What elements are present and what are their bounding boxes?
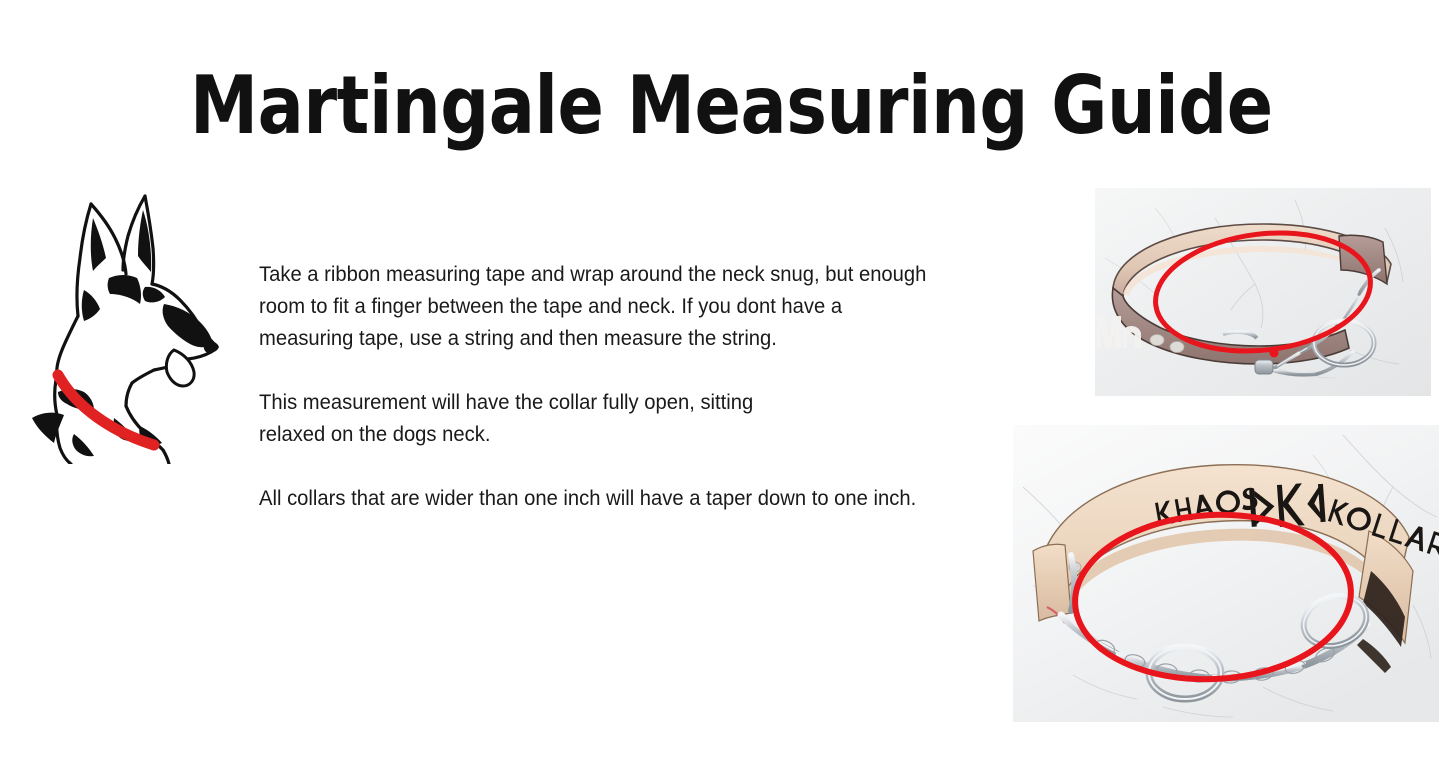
german-shepherd-illustration — [14, 182, 242, 464]
measuring-guide-page: Martingale Measuring Guide — [0, 0, 1445, 757]
paragraph-2: This measurement will have the collar fu… — [259, 386, 973, 450]
martingale-collar-open-top-image — [1095, 188, 1431, 396]
collar-photo-top — [1095, 188, 1431, 396]
annotation-endpoint-dot — [1270, 349, 1279, 358]
collar-photo-bottom — [1013, 425, 1439, 722]
german-shepherd-head-icon — [14, 182, 242, 464]
instructions-text-block: Take a ribbon measuring tape and wrap ar… — [259, 258, 1019, 514]
paragraph-3: All collars that are wider than one inch… — [259, 482, 973, 514]
paragraph-1: Take a ribbon measuring tape and wrap ar… — [259, 258, 973, 354]
page-title: Martingale Measuring Guide — [190, 62, 1045, 150]
martingale-collar-open-bottom-image — [1013, 425, 1439, 722]
